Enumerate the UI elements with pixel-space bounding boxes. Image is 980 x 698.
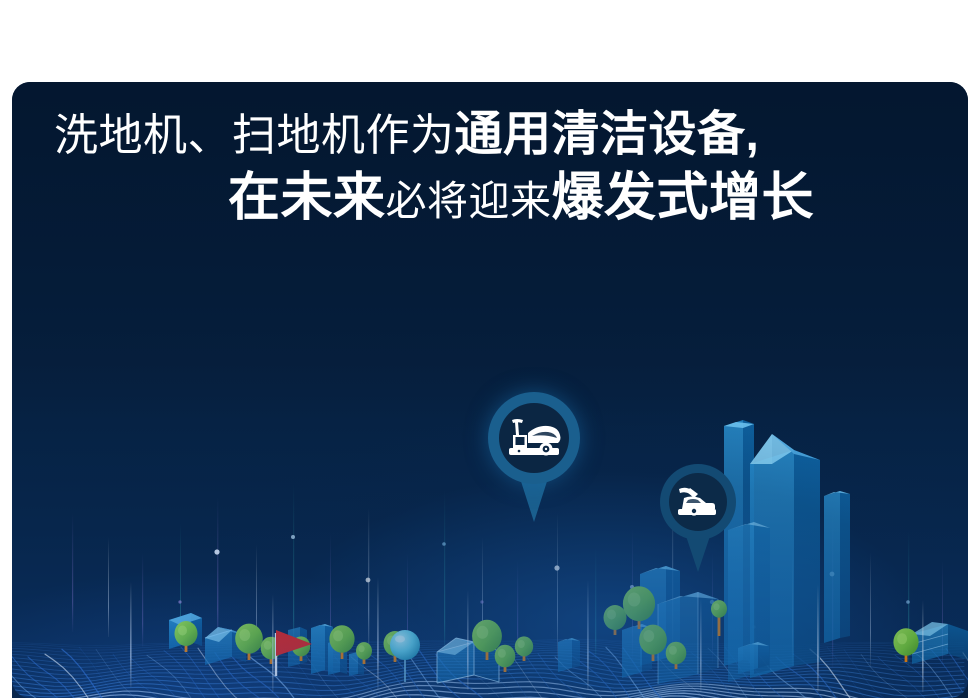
pin-inner-circle [499,403,569,473]
headline-line2-bold-tail: 爆发式增长 [552,169,815,227]
headline-line2-bold-lead: 在未来 [228,169,386,227]
headline-block: 洗地机、扫地机作为通用清洁设备, 在未来必将迎来爆发式增长 [0,110,956,226]
headline-line2-regular-mid: 必将迎来 [386,178,552,224]
ride-on-sweeper-icon [676,486,720,518]
map-pin-sweeper[interactable] [660,464,736,572]
headline-line-2: 在未来必将迎来爆发式增长 [0,171,956,226]
map-pin-floor-scrubber[interactable] [488,392,580,522]
pin-inner-circle [669,473,727,531]
headline-line1-bold: 通用清洁设备, [455,108,760,161]
headline-line1-regular: 洗地机、扫地机作为 [54,111,455,160]
screenshot-root: 洗地机、扫地机作为通用清洁设备, 在未来必将迎来爆发式增长 [0,0,980,698]
headline-line-1: 洗地机、扫地机作为通用清洁设备, [0,110,956,161]
ride-on-floor-scrubber-icon [506,418,562,458]
